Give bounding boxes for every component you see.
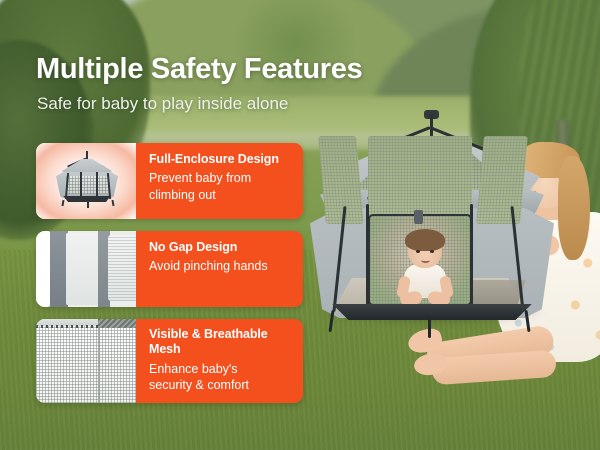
mini-leg-1 — [61, 200, 64, 206]
feature-thumbnail-mesh — [36, 319, 136, 403]
feature-desc-line-2: security & comfort — [149, 377, 291, 394]
corner-closeup-photo — [36, 231, 136, 307]
feature-card-no-gap: No Gap Design Avoid pinching hands — [36, 231, 303, 307]
mesh-panel-left — [318, 136, 364, 224]
mini-playpen-icon — [52, 155, 122, 207]
feature-card-breathable-mesh: Visible & Breathable Mesh Enhance baby's… — [36, 319, 303, 403]
playpen-product: VEVOR — [302, 128, 562, 333]
mini-leg-2 — [87, 202, 89, 208]
frame-edge-2 — [366, 204, 369, 312]
frame-edge-3 — [470, 204, 473, 312]
feature-title: Visible & Breathable Mesh — [149, 327, 291, 358]
playpen-base-rail — [316, 304, 548, 320]
mini-edge-2 — [80, 172, 82, 199]
mini-edge-3 — [96, 172, 98, 199]
corner-panel-1 — [66, 233, 100, 305]
feature-desc-line-2: climbing out — [149, 187, 291, 204]
baby-mouth — [421, 258, 430, 263]
mini-leg-3 — [111, 200, 114, 206]
hair-side — [558, 156, 590, 260]
feature-text-panel: Full-Enclosure Design Prevent baby from … — [136, 143, 303, 219]
page-subtitle: Safe for baby to play inside alone — [37, 94, 288, 114]
mesh-vertical-seam — [98, 326, 100, 403]
feature-text-panel: No Gap Design Avoid pinching hands — [136, 231, 303, 307]
baby-inside-playpen — [394, 232, 456, 304]
mesh-panel-right — [476, 136, 528, 224]
feature-thumbnail-playpen — [36, 143, 136, 219]
corner-panel-2 — [108, 235, 136, 301]
feature-desc-line-1: Enhance baby's — [149, 361, 291, 378]
feature-card-full-enclosure: Full-Enclosure Design Prevent baby from … — [36, 143, 303, 219]
feature-text-panel: Visible & Breathable Mesh Enhance baby's… — [136, 319, 303, 403]
marketing-banner: VEVOR Multiple Safety Features — [0, 0, 600, 450]
feature-desc-line-1: Avoid pinching hands — [149, 258, 291, 275]
baby-eye-right — [430, 250, 434, 253]
playpen-leg-center — [428, 316, 431, 338]
baby-hair — [405, 229, 445, 251]
feature-thumbnail-corner — [36, 231, 136, 307]
mini-mesh — [66, 176, 108, 194]
door-zipper-pull — [414, 210, 423, 224]
mesh-dark-corner — [98, 319, 136, 328]
feature-title: No Gap Design — [149, 240, 291, 255]
feature-desc-line-1: Prevent baby from — [149, 170, 291, 187]
baby-eye-left — [416, 250, 420, 253]
mesh-closeup-photo — [36, 319, 136, 403]
feature-title: Full-Enclosure Design — [149, 152, 291, 167]
page-title: Multiple Safety Features — [36, 53, 362, 86]
